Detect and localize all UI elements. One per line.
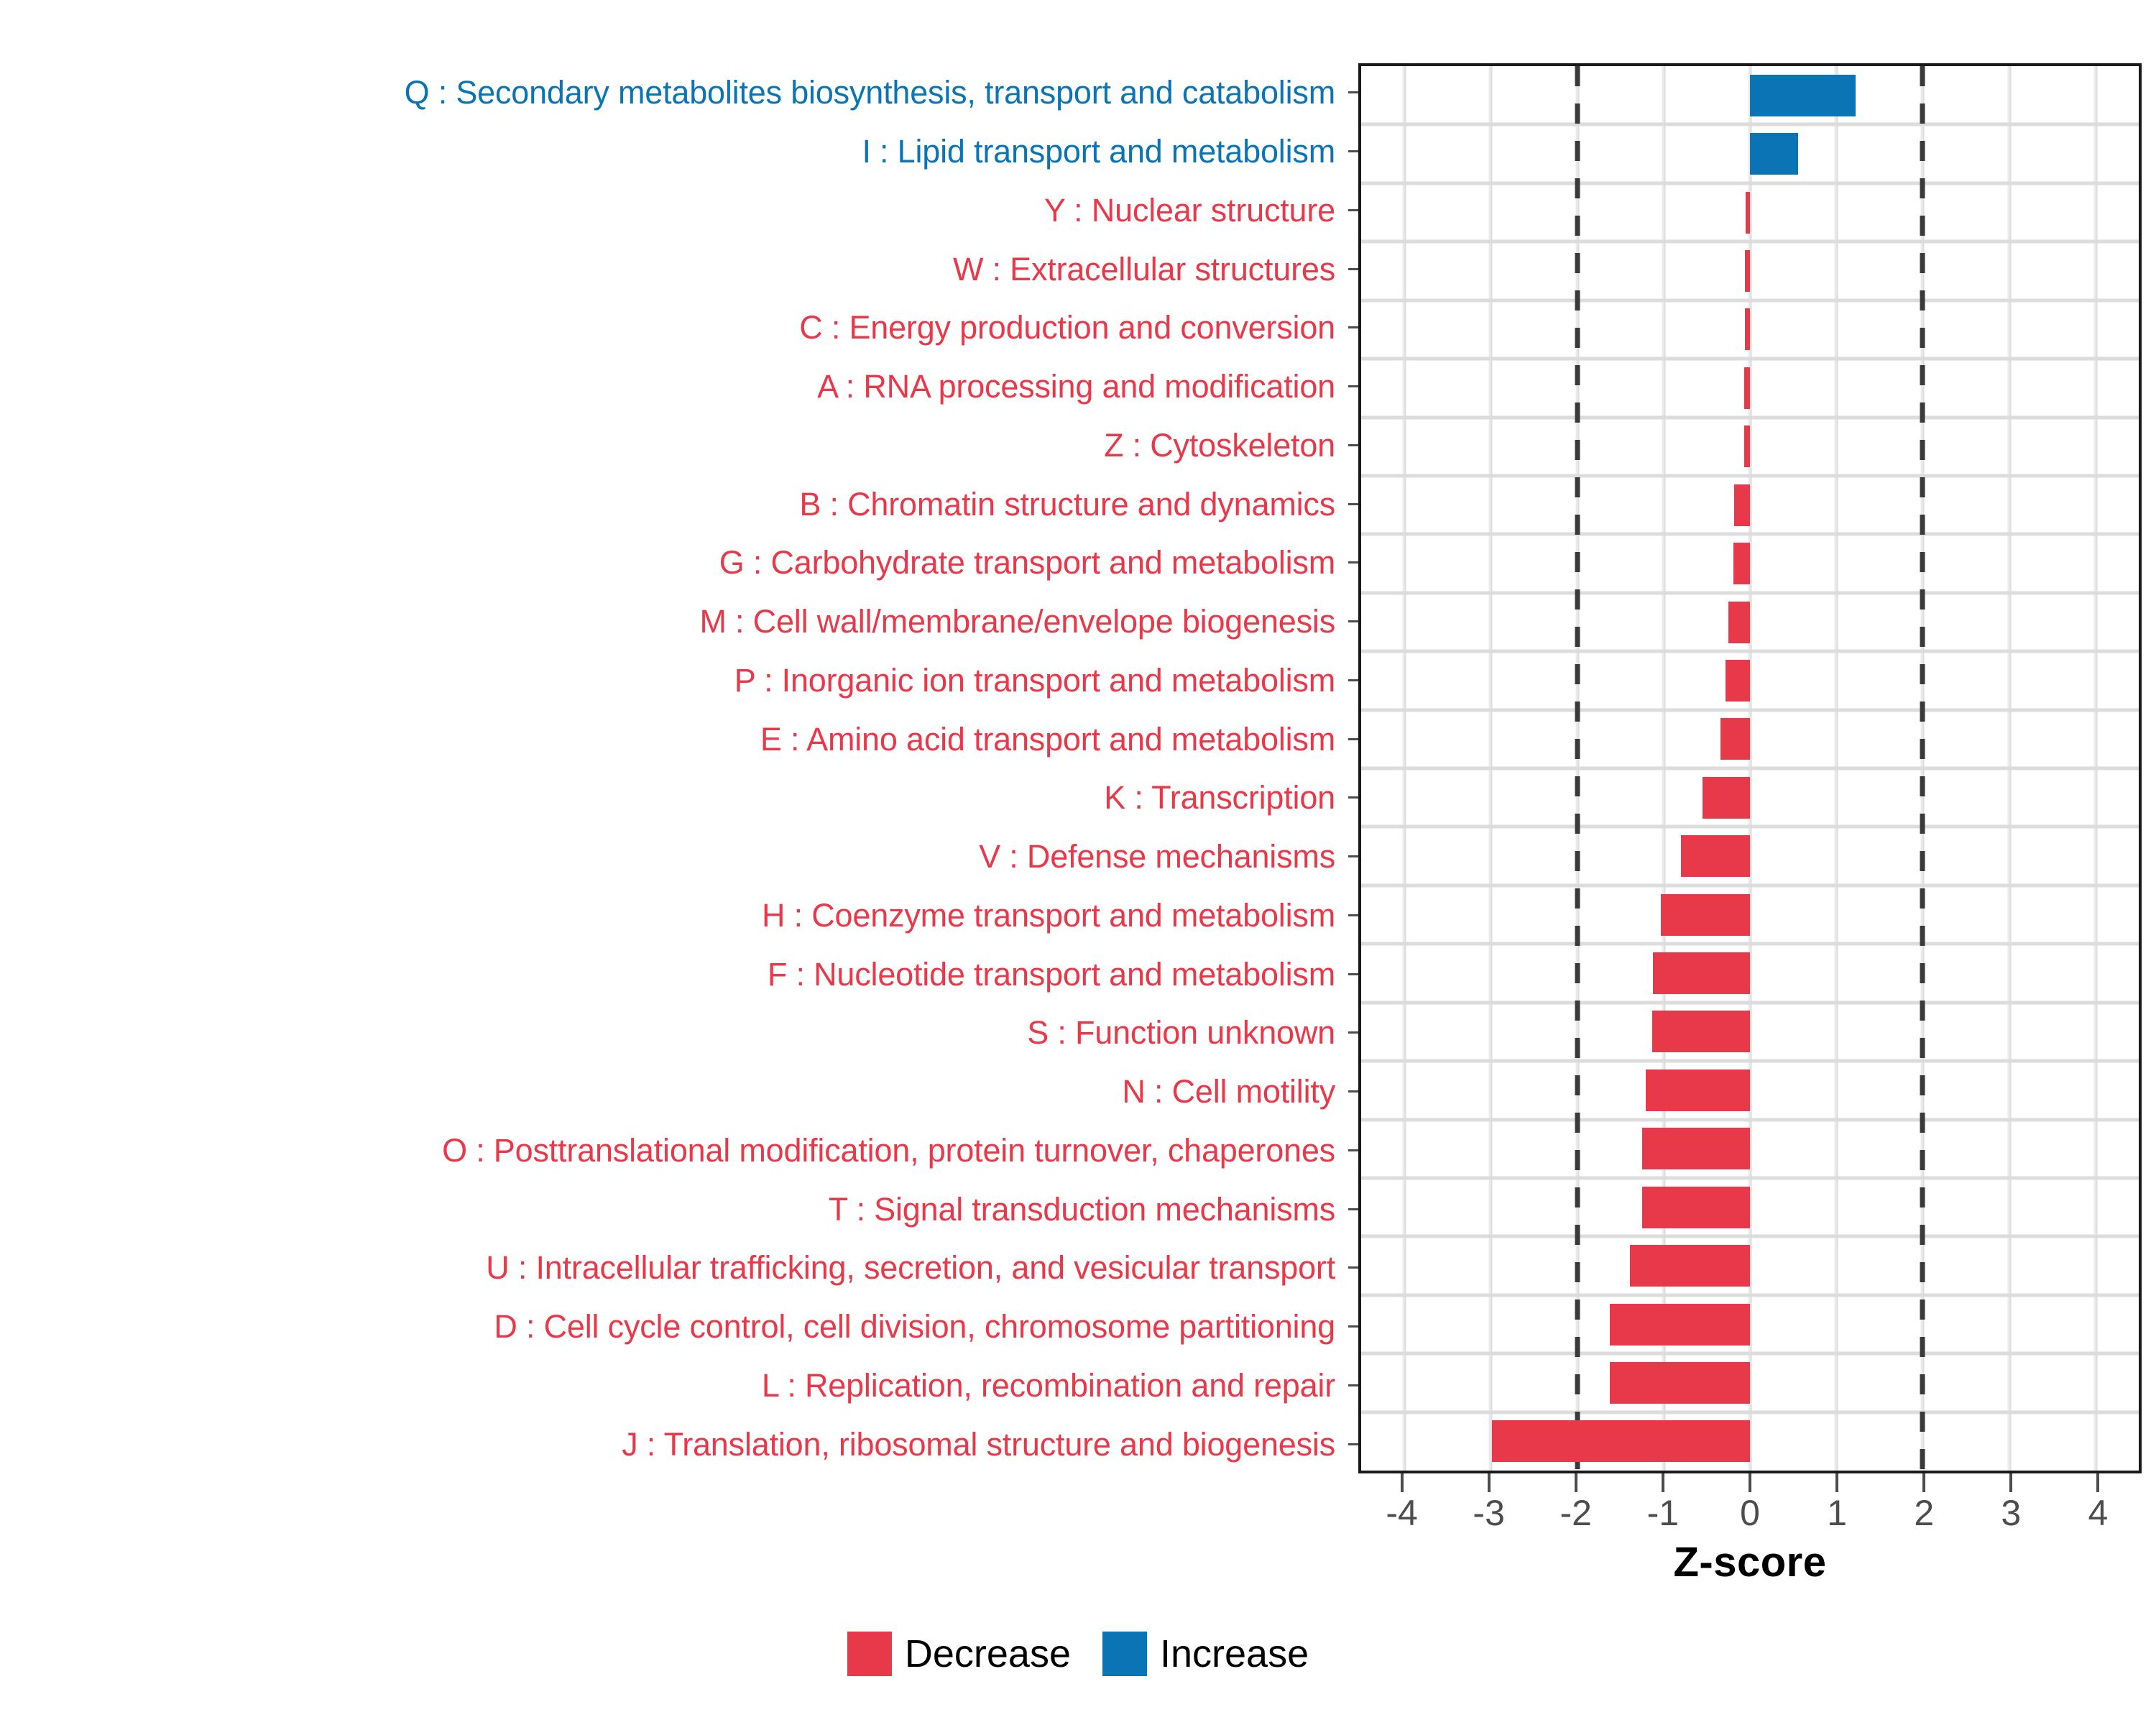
bar-row — [1361, 476, 2139, 534]
y-axis-label: V : Defense mechanisms — [0, 827, 1348, 886]
y-tick-slot — [1348, 1414, 1358, 1473]
bar-series — [1361, 66, 2139, 1471]
y-tick-slot — [1348, 416, 1358, 475]
x-tick-label: 3 — [2001, 1495, 2021, 1531]
bar — [1726, 660, 1750, 701]
y-tick-mark — [1348, 150, 1358, 152]
bar-row — [1361, 1178, 2139, 1236]
y-axis-label: K : Transcription — [0, 768, 1348, 827]
y-tick-slot — [1348, 181, 1358, 240]
bar — [1661, 894, 1750, 936]
bar-row — [1361, 651, 2139, 709]
x-axis-title: Z-score — [1358, 1538, 2142, 1586]
bar — [1744, 367, 1750, 409]
y-axis-label: E : Amino acid transport and metabolism — [0, 709, 1348, 768]
y-tick-slot — [1348, 1121, 1358, 1180]
bar — [1728, 602, 1750, 643]
y-tick-mark — [1348, 1149, 1358, 1151]
bar — [1744, 425, 1750, 467]
bar — [1745, 308, 1750, 350]
y-tick-slot — [1348, 63, 1358, 122]
x-tick-label: 0 — [1740, 1495, 1760, 1531]
y-tick-slot — [1348, 1003, 1358, 1062]
y-tick-mark — [1348, 561, 1358, 563]
y-tick-slot — [1348, 886, 1358, 945]
bar — [1703, 777, 1750, 819]
y-tick-mark — [1348, 1031, 1358, 1034]
y-axis-label: P : Inorganic ion transport and metaboli… — [0, 651, 1348, 710]
chart-panel — [1358, 63, 2142, 1473]
bar — [1610, 1362, 1750, 1404]
y-tick-mark — [1348, 1384, 1358, 1386]
legend-item: Decrease — [847, 1632, 1071, 1676]
bar-row — [1361, 1061, 2139, 1119]
bar-row — [1361, 1353, 2139, 1412]
y-axis-label: O : Posttranslational modification, prot… — [0, 1121, 1348, 1180]
bar-row — [1361, 534, 2139, 592]
bar — [1734, 484, 1750, 526]
bar-row — [1361, 1120, 2139, 1178]
y-tick-slot — [1348, 1062, 1358, 1121]
y-tick-slot — [1348, 357, 1358, 416]
y-tick-mark — [1348, 855, 1358, 857]
x-tick-mark — [2009, 1473, 2012, 1492]
legend-item: Increase — [1102, 1632, 1309, 1676]
bar-row — [1361, 768, 2139, 827]
bar — [1630, 1245, 1750, 1287]
y-axis-category-labels: Q : Secondary metabolites biosynthesis, … — [0, 63, 1348, 1473]
y-tick-mark — [1348, 268, 1358, 270]
bar — [1642, 1128, 1750, 1169]
y-axis-label: M : Cell wall/membrane/envelope biogenes… — [0, 592, 1348, 651]
legend-label: Decrease — [905, 1634, 1071, 1673]
y-tick-mark — [1348, 738, 1358, 740]
y-tick-slot — [1348, 474, 1358, 533]
y-tick-mark — [1348, 973, 1358, 975]
bar-row — [1361, 183, 2139, 241]
legend-swatch — [1102, 1632, 1147, 1676]
y-tick-slot — [1348, 1179, 1358, 1238]
y-axis-label: S : Function unknown — [0, 1003, 1348, 1062]
bar-row — [1361, 1236, 2139, 1294]
bar — [1646, 1069, 1750, 1111]
bar — [1653, 952, 1750, 994]
bar — [1750, 75, 1856, 116]
bar-row — [1361, 710, 2139, 768]
y-tick-mark — [1348, 1266, 1358, 1269]
x-tick-mark — [1835, 1473, 1838, 1492]
x-tick-mark — [1575, 1473, 1577, 1492]
y-tick-slot — [1348, 533, 1358, 592]
y-tick-mark — [1348, 620, 1358, 622]
x-tick-mark — [1488, 1473, 1491, 1492]
x-tick-mark — [2096, 1473, 2099, 1492]
y-axis-label: F : Nucleotide transport and metabolism — [0, 944, 1348, 1003]
y-tick-mark — [1348, 914, 1358, 916]
y-tick-mark — [1348, 385, 1358, 387]
y-tick-mark — [1348, 326, 1358, 328]
bar-row — [1361, 300, 2139, 359]
bar — [1610, 1304, 1750, 1345]
y-axis-label: W : Extracellular structures — [0, 239, 1348, 298]
y-tick-mark — [1348, 796, 1358, 799]
y-axis-label: Z : Cytoskeleton — [0, 416, 1348, 475]
x-tick-label: -1 — [1647, 1495, 1679, 1531]
y-axis-label: C : Energy production and conversion — [0, 298, 1348, 357]
y-tick-mark — [1348, 444, 1358, 446]
y-axis-label: T : Signal transduction mechanisms — [0, 1179, 1348, 1238]
bar-row — [1361, 124, 2139, 183]
bar — [1746, 192, 1750, 234]
x-tick-label: -2 — [1560, 1495, 1592, 1531]
y-tick-slot — [1348, 1238, 1358, 1297]
x-tick-mark — [1401, 1473, 1404, 1492]
bar — [1492, 1420, 1750, 1462]
bar-row — [1361, 359, 2139, 417]
y-axis-label: J : Translation, ribosomal structure and… — [0, 1414, 1348, 1473]
y-tick-slot — [1348, 1297, 1358, 1356]
y-axis-label: Y : Nuclear structure — [0, 181, 1348, 240]
y-tick-slot — [1348, 298, 1358, 357]
y-tick-slot — [1348, 944, 1358, 1003]
y-axis-label: L : Replication, recombination and repai… — [0, 1356, 1348, 1415]
bar-row — [1361, 1295, 2139, 1353]
legend-swatch — [847, 1632, 892, 1676]
bar-row — [1361, 241, 2139, 300]
y-axis-label: G : Carbohydrate transport and metabolis… — [0, 533, 1348, 592]
y-axis-tick-marks — [1348, 63, 1358, 1473]
bar — [1652, 1011, 1750, 1052]
y-tick-slot — [1348, 827, 1358, 886]
y-tick-mark — [1348, 679, 1358, 681]
bar — [1720, 718, 1750, 760]
bar-row — [1361, 593, 2139, 651]
y-tick-slot — [1348, 1356, 1358, 1415]
legend: DecreaseIncrease — [0, 1632, 2156, 1676]
y-tick-mark — [1348, 1208, 1358, 1210]
y-tick-mark — [1348, 503, 1358, 505]
bar-row — [1361, 1003, 2139, 1061]
y-axis-label: B : Chromatin structure and dynamics — [0, 474, 1348, 533]
bar-row — [1361, 885, 2139, 944]
x-tick-mark — [1922, 1473, 1925, 1492]
y-axis-label: D : Cell cycle control, cell division, c… — [0, 1297, 1348, 1356]
bar — [1733, 543, 1750, 584]
x-tick-mark — [1749, 1473, 1751, 1492]
bar-row — [1361, 944, 2139, 1002]
x-tick-label: 2 — [1914, 1495, 1934, 1531]
y-tick-mark — [1348, 1443, 1358, 1445]
bar-row — [1361, 1412, 2139, 1471]
bar — [1745, 250, 1750, 292]
y-axis-label: N : Cell motility — [0, 1062, 1348, 1121]
y-tick-slot — [1348, 122, 1358, 181]
y-tick-mark — [1348, 91, 1358, 93]
y-axis-label: H : Coenzyme transport and metabolism — [0, 886, 1348, 945]
y-tick-slot — [1348, 592, 1358, 651]
x-tick-label: -4 — [1386, 1495, 1417, 1531]
plot-region: Q : Secondary metabolites biosynthesis, … — [0, 0, 2156, 1567]
y-axis-label: I : Lipid transport and metabolism — [0, 122, 1348, 181]
bar — [1642, 1187, 1750, 1228]
y-tick-mark — [1348, 1325, 1358, 1328]
y-tick-slot — [1348, 768, 1358, 827]
bar-row — [1361, 827, 2139, 885]
y-axis-label: U : Intracellular trafficking, secretion… — [0, 1238, 1348, 1297]
cog-zscore-bar-chart: Q : Secondary metabolites biosynthesis, … — [0, 0, 2156, 1725]
bar-row — [1361, 418, 2139, 476]
bar-row — [1361, 66, 2139, 124]
y-tick-mark — [1348, 1090, 1358, 1092]
x-tick-label: 1 — [1827, 1495, 1847, 1531]
y-axis-label: A : RNA processing and modification — [0, 357, 1348, 416]
y-tick-slot — [1348, 709, 1358, 768]
bar — [1681, 835, 1750, 877]
y-tick-slot — [1348, 651, 1358, 710]
legend-label: Increase — [1160, 1634, 1309, 1673]
y-tick-slot — [1348, 239, 1358, 298]
y-axis-label: Q : Secondary metabolites biosynthesis, … — [0, 63, 1348, 122]
x-tick-mark — [1662, 1473, 1664, 1492]
x-tick-label: -3 — [1473, 1495, 1504, 1531]
y-tick-mark — [1348, 209, 1358, 211]
x-tick-label: 4 — [2088, 1495, 2109, 1531]
bar — [1750, 133, 1798, 175]
